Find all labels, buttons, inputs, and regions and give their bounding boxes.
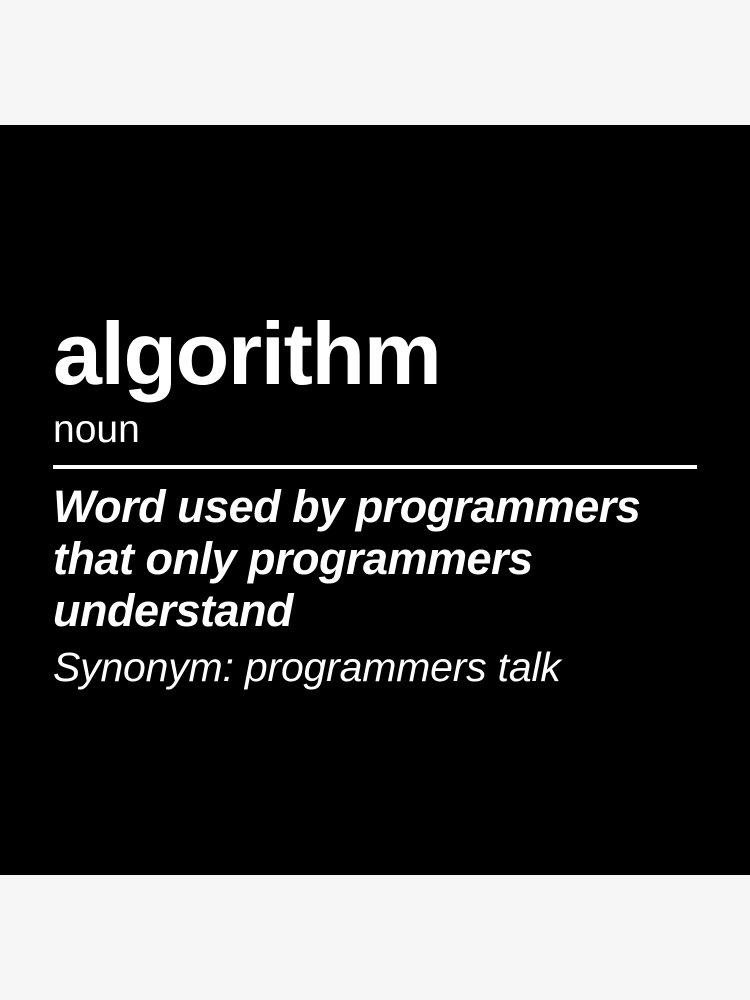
poster-canvas: algorithm noun Word used by programmers … <box>0 0 750 1000</box>
part-of-speech-label: noun <box>53 409 699 451</box>
dictionary-definition-block: algorithm noun Word used by programmers … <box>53 310 699 691</box>
definition-text: Word used by programmers that only progr… <box>53 481 699 637</box>
black-poster-area: algorithm noun Word used by programmers … <box>0 125 750 875</box>
definition-line-1: Word used by programmers <box>53 481 699 533</box>
definition-line-2: that only programmers <box>53 533 699 585</box>
term-headword: algorithm <box>53 310 699 398</box>
synonym-text: Synonym: programmers talk <box>53 643 699 691</box>
definition-line-3: understand <box>53 585 699 637</box>
horizontal-divider <box>53 465 697 469</box>
